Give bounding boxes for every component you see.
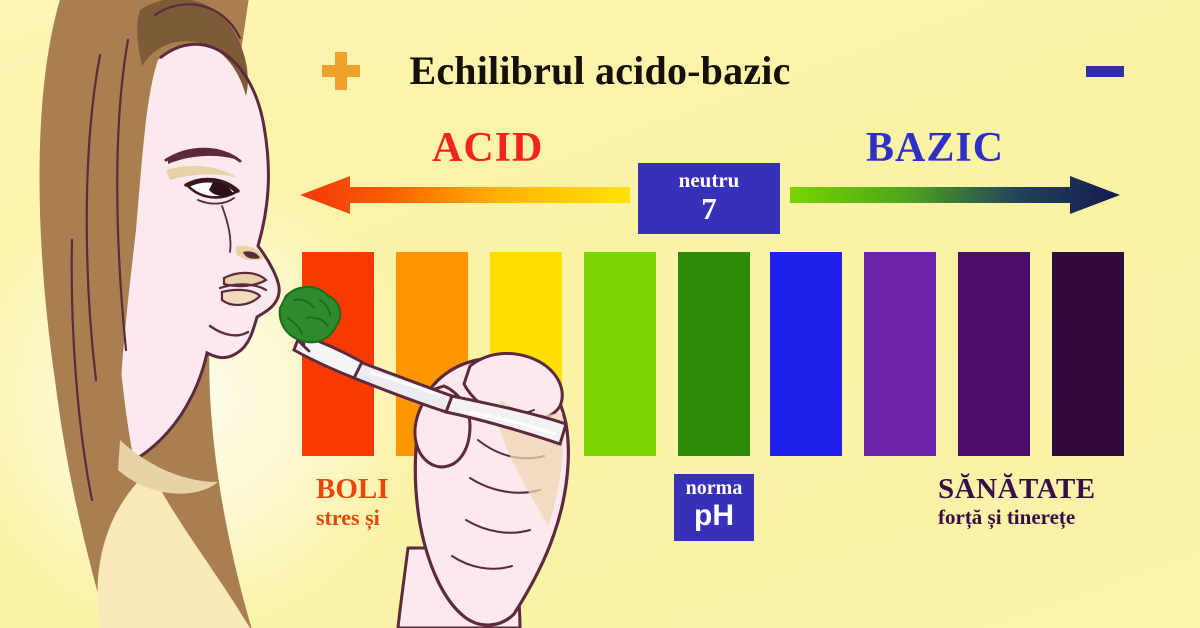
broccoli	[280, 287, 340, 342]
infographic-canvas: Echilibrul acido-bazic ACID BAZIC	[0, 0, 1200, 628]
norma-ph-box: norma pH	[674, 474, 754, 541]
sanatate-subtitle: forță și tinerețe	[938, 504, 1168, 531]
illustration-woman-eating	[0, 0, 1200, 628]
right-caption-group: SĂNĂTATE forță și tinerețe	[938, 474, 1168, 531]
norma-label: norma	[674, 477, 754, 500]
neutral-value-box: neutru 7	[638, 163, 780, 234]
neutral-label: neutru	[638, 168, 780, 192]
norma-ph-value: pH	[674, 500, 754, 532]
page-title: Echilibrul acido-bazic	[0, 47, 1200, 94]
sanatate-title: SĂNĂTATE	[938, 474, 1168, 504]
neutral-value: 7	[638, 192, 780, 225]
